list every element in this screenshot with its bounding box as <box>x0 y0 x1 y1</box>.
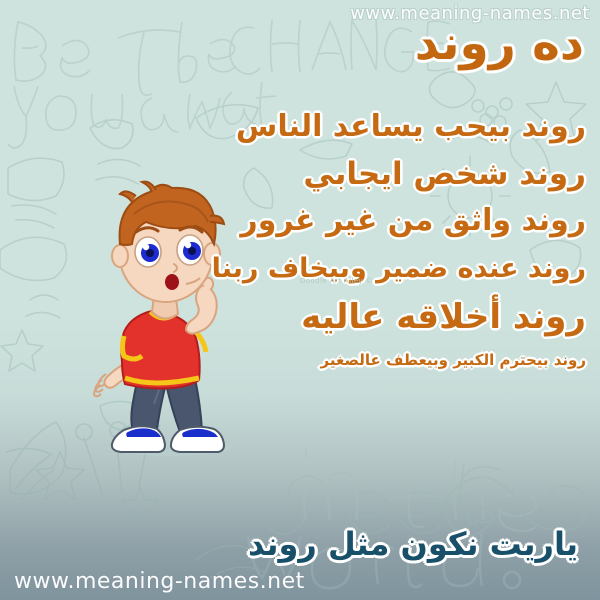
doodle-credit: Doodle Art Alley © <box>300 277 373 285</box>
page-title: ده روند <box>415 20 584 67</box>
trait-list: روند بيحب يساعد الناس روند شخص ايجابي رو… <box>166 110 586 375</box>
watermark-bottom: www.meaning-names.net <box>14 569 305 594</box>
trait-line: روند بيحب يساعد الناس <box>166 110 586 144</box>
trait-line: روند عنده ضمير وبيخاف ربنا <box>166 254 586 284</box>
trait-line: روند شخص ايجابي <box>166 157 586 192</box>
trait-line: روند واثق من غير غرور <box>166 204 586 238</box>
trait-line: روند أخلاقه عاليه <box>166 298 586 336</box>
trait-line: روند بيحترم الكبير وبيعطف عالصغير <box>166 352 586 369</box>
footer-tagline: ياريت نكون مثل روند <box>248 528 578 560</box>
name-meaning-card: www.meaning-names.net ده روند <box>0 0 600 600</box>
